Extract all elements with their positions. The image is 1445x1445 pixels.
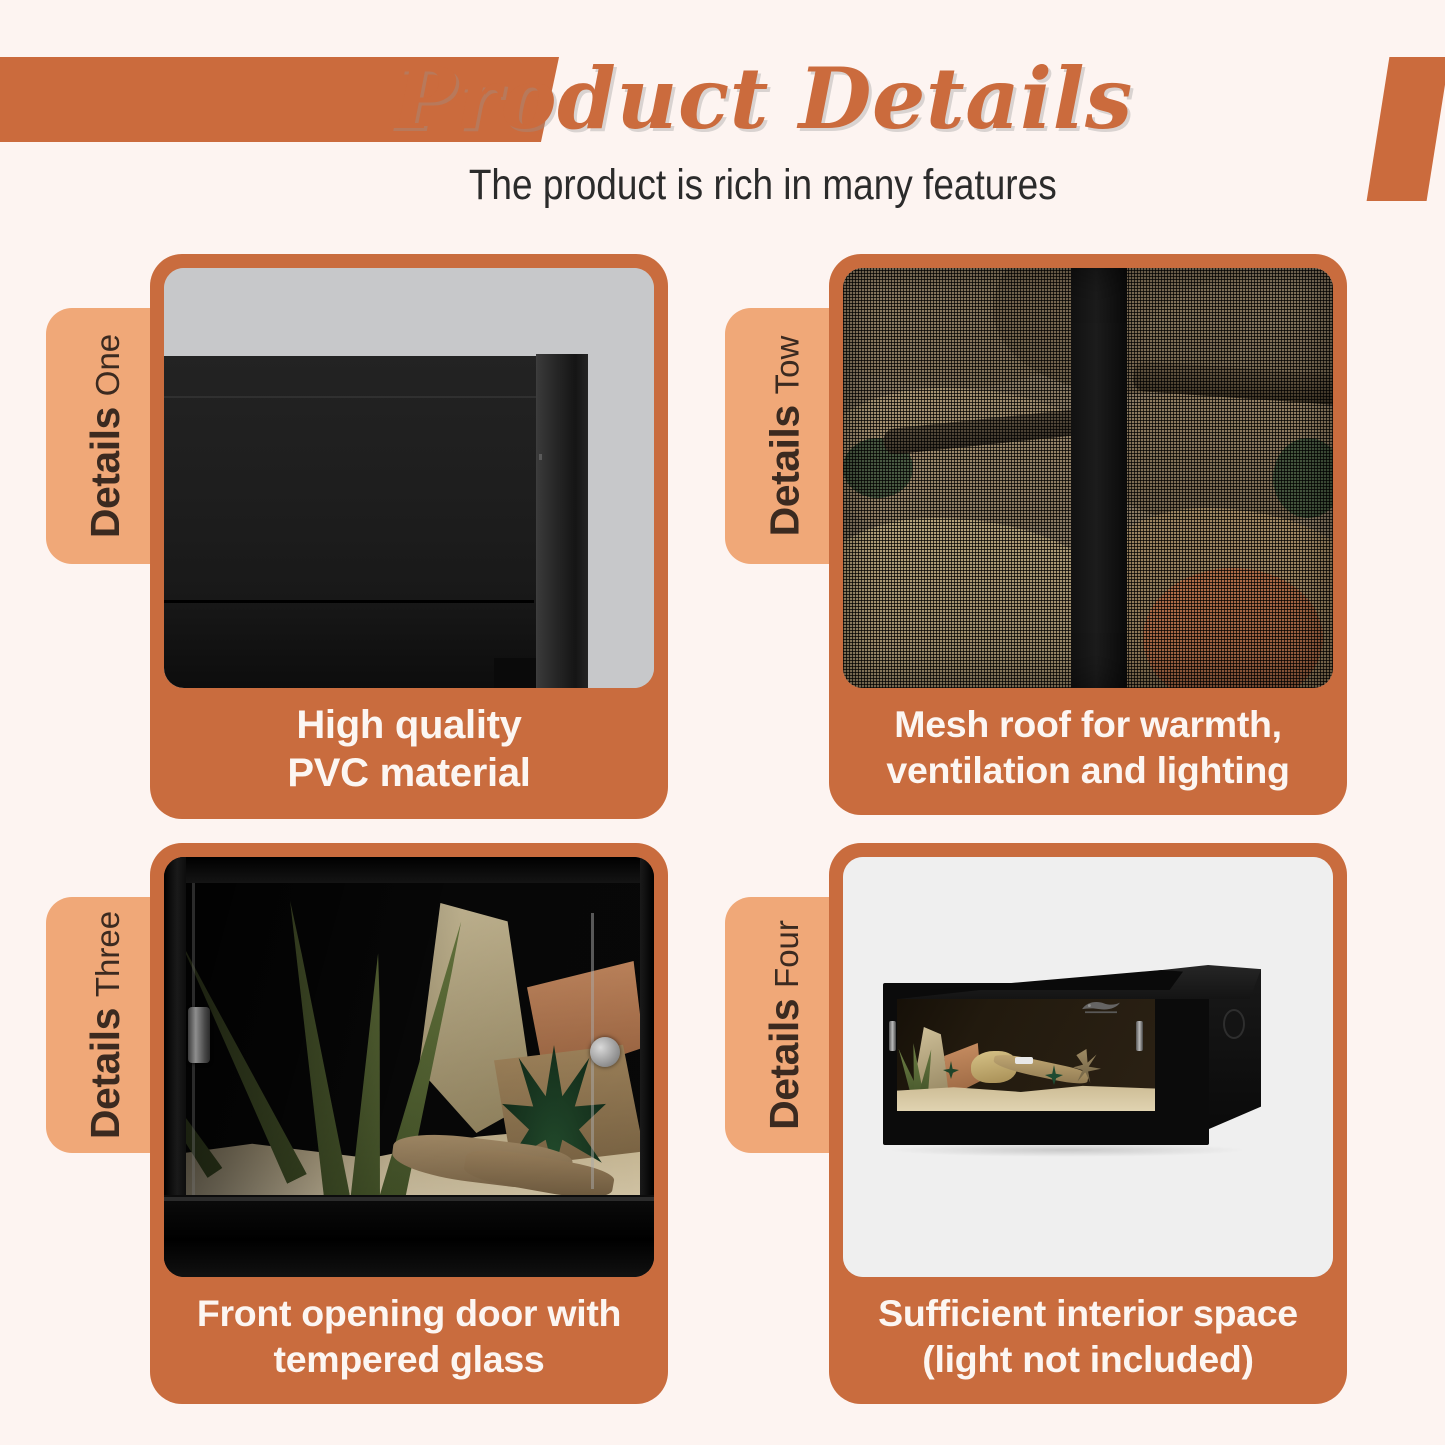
detail-tab-two-number: Tow xyxy=(770,336,804,395)
detail-card-one-caption-line1: High quality xyxy=(296,703,521,747)
detail-card-one-caption-line2: PVC material xyxy=(287,751,530,795)
detail-tab-one-inner: Details One xyxy=(84,334,126,538)
detail-tab-two[interactable]: Details Tow xyxy=(725,308,843,564)
page-title: Product Details xyxy=(392,52,1133,146)
details-grid: Details One High quality PVC material xyxy=(0,232,1445,1445)
detail-card-one-caption: High quality PVC material xyxy=(164,688,654,819)
detail-card-two-caption: Mesh roof for warmth, ventilation and li… xyxy=(843,688,1333,815)
detail-cell-two: Details Tow xyxy=(829,254,1347,815)
page-title-container: Product Details xyxy=(0,52,1445,146)
detail-card-three-caption-line2: tempered glass xyxy=(274,1338,545,1380)
detail-card-one[interactable]: High quality PVC material xyxy=(150,254,668,819)
detail-card-three-caption: Front opening door with tempered glass xyxy=(164,1277,654,1404)
detail-tab-four-inner: Details Four xyxy=(763,920,805,1130)
terrarium-product xyxy=(883,965,1253,1145)
detail-card-four[interactable]: Sufficient interior space (light not inc… xyxy=(829,843,1347,1404)
detail-card-four-caption: Sufficient interior space (light not inc… xyxy=(843,1277,1333,1404)
door-handle-icon[interactable] xyxy=(188,1007,210,1063)
detail-cell-four: Details Four xyxy=(829,843,1347,1404)
thermometer-gauge-icon xyxy=(590,1037,620,1067)
detail-card-two[interactable]: Mesh roof for warmth, ventilation and li… xyxy=(829,254,1347,815)
detail-tab-three-label: Details xyxy=(84,1008,126,1139)
detail-card-two-caption-line2: ventilation and lighting xyxy=(886,749,1289,791)
detail-tab-two-inner: Details Tow xyxy=(763,336,805,537)
detail-tab-three-inner: Details Three xyxy=(84,911,126,1139)
detail-tab-one-number: One xyxy=(91,334,125,396)
brand-logo xyxy=(1079,999,1123,1015)
page-header: Product Details The product is rich in m… xyxy=(0,0,1445,232)
detail-tab-two-label: Details xyxy=(763,405,805,536)
detail-card-three[interactable]: Front opening door with tempered glass xyxy=(150,843,668,1404)
detail-card-two-caption-line1: Mesh roof for warmth, xyxy=(894,703,1281,745)
detail-tab-four-number: Four xyxy=(770,920,804,988)
full-product-image xyxy=(843,857,1333,1277)
side-vent-icon xyxy=(1223,1009,1245,1039)
detail-tab-three-number: Three xyxy=(91,911,125,997)
detail-tab-four-label: Details xyxy=(763,999,805,1130)
detail-card-four-caption-line1: Sufficient interior space xyxy=(878,1292,1298,1334)
right-door-handle-icon xyxy=(1136,1021,1143,1051)
front-door-image xyxy=(164,857,654,1277)
detail-tab-three[interactable]: Details Three xyxy=(46,897,164,1153)
detail-card-three-caption-line1: Front opening door with xyxy=(197,1292,621,1334)
detail-tab-one[interactable]: Details One xyxy=(46,308,164,564)
left-door-handle-icon xyxy=(889,1021,896,1051)
detail-cell-one: Details One High quality PVC material xyxy=(150,254,668,819)
page-subtitle-container: The product is rich in many features xyxy=(0,160,1445,210)
detail-tab-one-label: Details xyxy=(84,407,126,538)
mesh-roof-image xyxy=(843,268,1333,688)
detail-card-four-caption-line2: (light not included) xyxy=(922,1338,1253,1380)
page-subtitle: The product is rich in many features xyxy=(469,160,1057,210)
detail-tab-four[interactable]: Details Four xyxy=(725,897,843,1153)
pvc-material-image xyxy=(164,268,654,688)
detail-cell-three: Details Three xyxy=(150,843,668,1404)
